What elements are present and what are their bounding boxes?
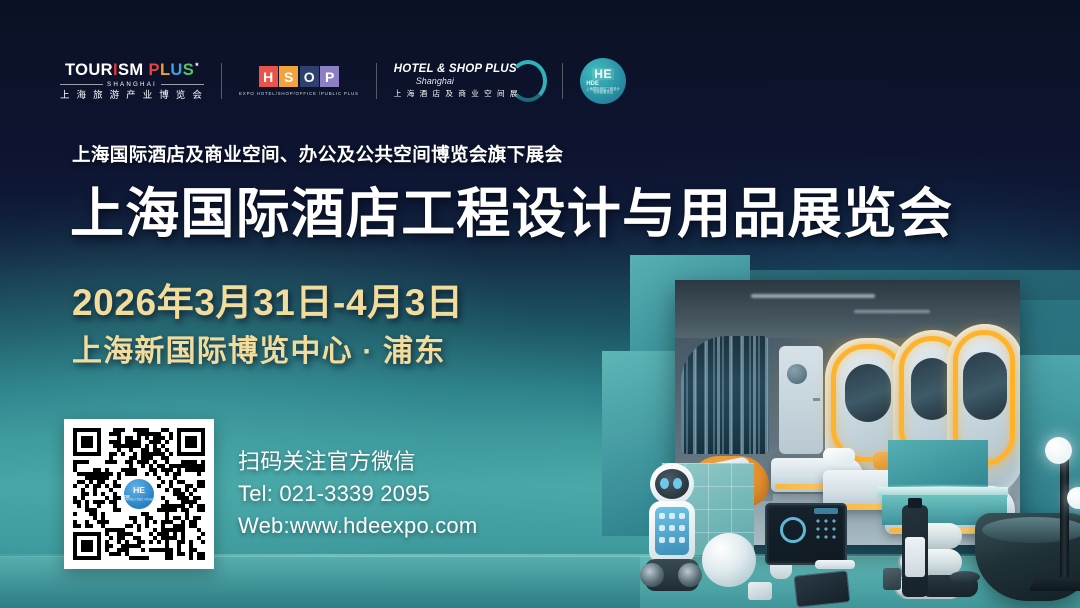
wall-mirror bbox=[787, 364, 807, 384]
logo-bar: TOURISM PLUS* SHANGHAI 上 海 旅 游 产 业 博 览 会… bbox=[60, 56, 626, 106]
tourism-shanghai-rule: SHANGHAI bbox=[60, 81, 204, 88]
control-panel-button bbox=[814, 508, 838, 514]
tourism-word-tour: TOUR bbox=[65, 62, 113, 79]
city-view-window bbox=[681, 336, 769, 454]
logo-tourism-plus[interactable]: TOURISM PLUS* SHANGHAI 上 海 旅 游 产 业 博 览 会 bbox=[60, 62, 204, 100]
city-skyline bbox=[681, 336, 769, 454]
amenity-bottle-label bbox=[905, 537, 925, 577]
hotel-shop-plus-title: HOTEL & SHOP PLUS bbox=[394, 63, 517, 75]
tourism-word-sm: SM bbox=[118, 62, 144, 79]
qr-logo-title: HE bbox=[133, 486, 145, 495]
hsop-letter-s: S bbox=[279, 66, 298, 87]
hotel-scene-illustration bbox=[620, 255, 1080, 608]
robot-screen-app-icon bbox=[679, 525, 685, 531]
wechat-qr-code[interactable]: HE HDE 上海国际酒店工程设计与用品展览会 bbox=[64, 419, 214, 569]
he-badge-subtitle: HDE bbox=[586, 81, 599, 87]
robot-eye-right bbox=[673, 478, 682, 489]
rule-left bbox=[60, 84, 103, 85]
remote-control bbox=[815, 560, 855, 569]
hotel-shop-plus-city: Shanghai bbox=[416, 76, 454, 86]
hsop-caption: EXPO HOTEL/SHOP/OFFICE /PUBLIC PLUS bbox=[239, 91, 359, 96]
door-handle bbox=[813, 398, 820, 401]
amenity-jar bbox=[883, 568, 901, 590]
capsule-porthole-1 bbox=[845, 364, 891, 422]
telephone-number: Tel: 021-3339 2095 bbox=[238, 478, 477, 510]
tourism-plus-wordmark: TOURISM PLUS* bbox=[65, 62, 199, 79]
logo-separator bbox=[562, 63, 563, 99]
plus-letter-u: U bbox=[170, 62, 182, 79]
robot-screen-app-icon bbox=[669, 537, 675, 543]
page-title: 上海国际酒店工程设计与用品展览会 bbox=[70, 184, 953, 244]
logo-hotel-shop-plus[interactable]: HOTEL & SHOP PLUS Shanghai 上 海 酒 店 及 商 业… bbox=[394, 63, 545, 100]
logo-separator bbox=[221, 63, 222, 99]
control-panel-keypad bbox=[814, 517, 838, 543]
promotional-banner: TOURISM PLUS* SHANGHAI 上 海 旅 游 产 业 博 览 会… bbox=[0, 0, 1080, 608]
smart-phone-device bbox=[793, 570, 850, 607]
hsop-letter-p: P bbox=[320, 66, 339, 87]
he-badge-chinese-2: 与用品展览会 bbox=[593, 91, 613, 94]
amenity-bottle-cap bbox=[908, 498, 922, 508]
plus-letter-p: P bbox=[149, 62, 160, 79]
hsop-letter-h: H bbox=[259, 66, 278, 87]
robot-screen-app-icon bbox=[659, 513, 665, 519]
floor-lamp-pole bbox=[1060, 443, 1069, 583]
qr-center-logo: HE HDE 上海国际酒店工程设计与用品展览会 bbox=[122, 477, 156, 511]
he-badge-content: HE HDE 上海国际酒店工程设计 与用品展览会 bbox=[586, 68, 620, 95]
he-badge-title: HE bbox=[592, 68, 614, 80]
event-venue: 上海新国际博览中心 · 浦东 bbox=[72, 326, 445, 370]
website-url[interactable]: Web:www.hdeexpo.com bbox=[238, 510, 477, 542]
plus-letter-s: S bbox=[183, 62, 194, 79]
robot-screen-app-icon bbox=[669, 513, 675, 519]
capsule-porthole-3 bbox=[963, 352, 1007, 420]
event-date: 2026年3月31日-4月3日 bbox=[72, 272, 464, 326]
robot-screen-app-icon bbox=[659, 537, 665, 543]
decorative-sphere bbox=[702, 533, 756, 587]
hsop-letter-blocks: H S O P bbox=[259, 66, 340, 87]
qr-center-logo-content: HE HDE 上海国际酒店工程设计与用品展览会 bbox=[121, 486, 158, 501]
bed-pillow-1 bbox=[823, 448, 855, 464]
floor-lamp-base bbox=[1029, 577, 1080, 591]
qr-code-pattern: HE HDE 上海国际酒店工程设计与用品展览会 bbox=[73, 428, 205, 560]
tourism-shanghai-label: SHANGHAI bbox=[103, 81, 161, 88]
service-robot bbox=[642, 463, 702, 593]
tourism-chinese-name: 上 海 旅 游 产 业 博 览 会 bbox=[60, 91, 204, 101]
logo-he-badge[interactable]: HE HDE 上海国际酒店工程设计 与用品展览会 bbox=[580, 58, 626, 104]
rule-right bbox=[161, 84, 204, 85]
robot-wheel-left bbox=[640, 563, 664, 587]
hsop-letter-o: O bbox=[300, 66, 319, 87]
contact-block: 扫码关注官方微信 Tel: 021-3339 2095 Web:www.hdee… bbox=[238, 446, 477, 542]
kicker-text: 上海国际酒店及商业空间、办公及公共空间博览会旗下展会 bbox=[72, 141, 563, 167]
qr-logo-chinese: 上海国际酒店工程设计与用品展览会 bbox=[121, 499, 158, 501]
container-lid bbox=[950, 571, 980, 583]
control-panel-dial bbox=[780, 517, 806, 543]
ceiling-light-strip bbox=[751, 294, 875, 298]
logo-separator bbox=[376, 63, 377, 99]
trademark-star-icon: * bbox=[195, 62, 199, 71]
plus-letter-l: L bbox=[160, 62, 170, 79]
robot-screen-app-icon bbox=[659, 525, 665, 531]
hotel-shop-plus-arc-icon bbox=[509, 60, 547, 102]
robot-eye-left bbox=[660, 478, 669, 489]
wechat-prompt: 扫码关注官方微信 bbox=[238, 446, 477, 478]
robot-screen-app-icon bbox=[679, 513, 685, 519]
lamp-globe-upper bbox=[1045, 437, 1072, 464]
robot-screen-app-icon bbox=[679, 537, 685, 543]
robot-wheel-right bbox=[678, 563, 702, 587]
small-cube-product bbox=[748, 582, 772, 600]
ceiling-light-strip-2 bbox=[854, 310, 930, 313]
logo-hsop[interactable]: H S O P EXPO HOTEL/SHOP/OFFICE /PUBLIC P… bbox=[239, 66, 359, 96]
robot-screen-app-icon bbox=[669, 525, 675, 531]
hotel-shop-plus-chinese: 上 海 酒 店 及 商 业 空 间 展 bbox=[394, 88, 519, 99]
